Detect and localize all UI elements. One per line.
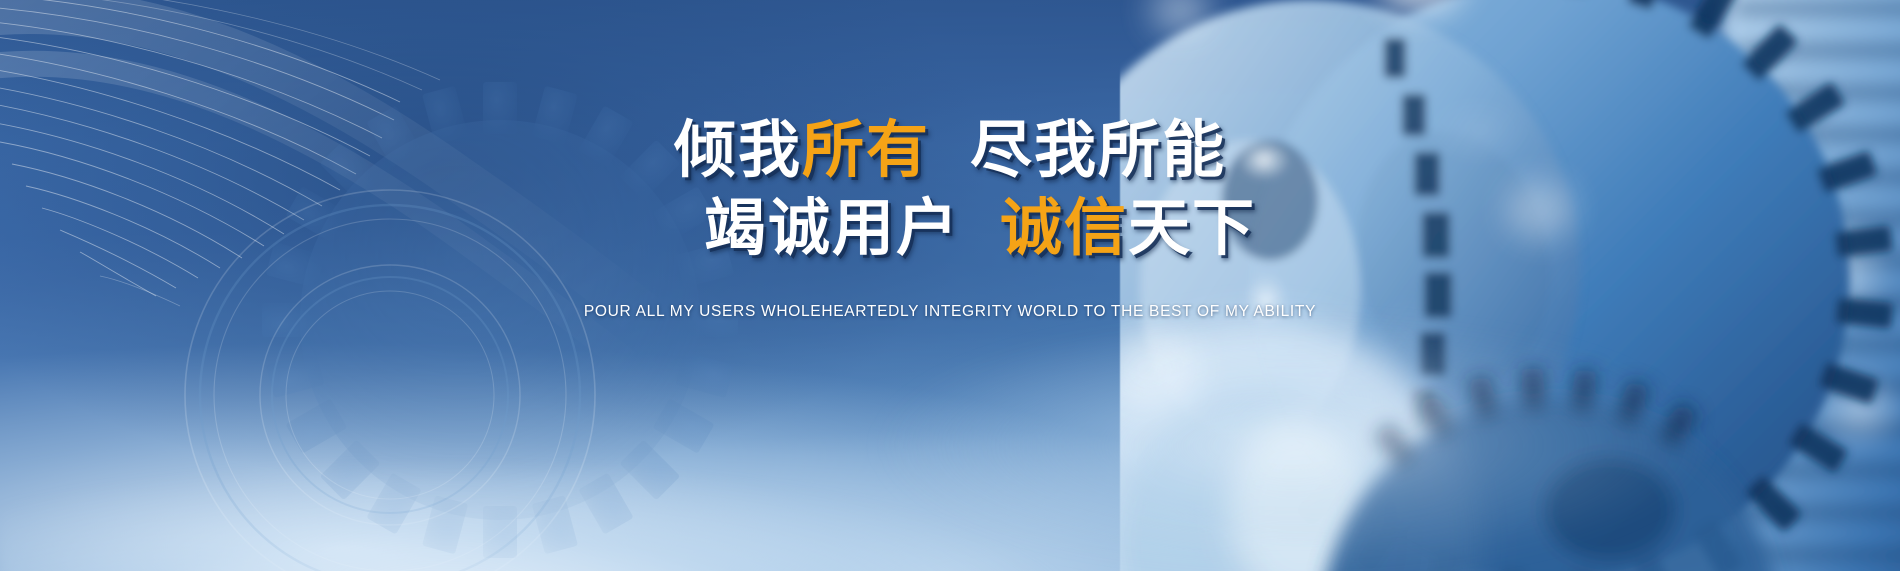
slogan-line-2-segment-2: 诚信 (1000, 196, 1128, 260)
slogan-line-1-segment-1: 倾我 (674, 118, 802, 182)
slogan-line-2-segment-3: 天下 (1128, 196, 1256, 260)
hero-banner: 倾我 所有 尽我所能 竭诚用户 诚信 天下 POUR ALL MY USERS … (0, 0, 1900, 571)
slogan-line-1-segment-3: 尽我所能 (970, 118, 1226, 182)
banner-copy: 倾我 所有 尽我所能 竭诚用户 诚信 天下 POUR ALL MY USERS … (0, 0, 1900, 571)
slogan-line-2: 竭诚用户 诚信 天下 (704, 196, 1256, 260)
slogan-line-1: 倾我 所有 尽我所能 (674, 118, 1226, 182)
banner-subtitle: POUR ALL MY USERS WHOLEHEARTEDLY INTEGRI… (584, 303, 1316, 321)
slogan-line-2-segment-1: 竭诚用户 (704, 196, 960, 260)
slogan-line-1-segment-2: 所有 (802, 118, 930, 182)
